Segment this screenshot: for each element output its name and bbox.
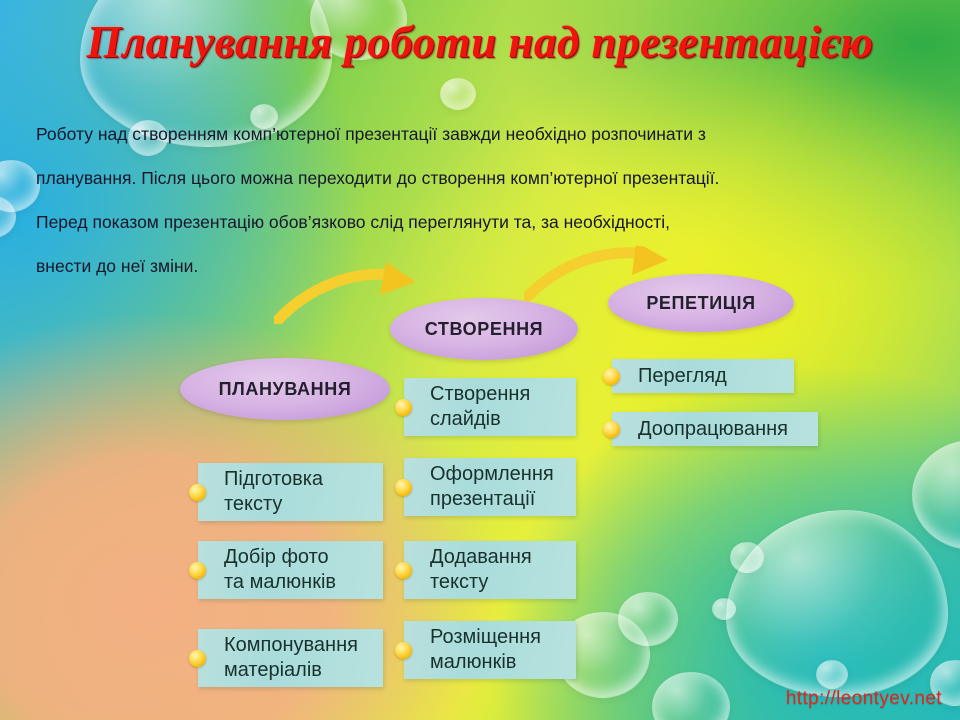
bullet-icon <box>189 650 206 667</box>
bullet-icon <box>395 399 412 416</box>
stage-rehearsal[interactable]: РЕПЕТИЦІЯ <box>608 274 794 332</box>
item-slide-creation[interactable]: Створення слайдів <box>404 378 576 436</box>
bullet-icon <box>395 562 412 579</box>
item-line-1: Розміщення <box>430 625 541 650</box>
item-photo-selection[interactable]: Добір фото та малюнків <box>198 541 383 599</box>
item-material-layout[interactable]: Компонування матеріалів <box>198 629 383 687</box>
stage-label: СТВОРЕННЯ <box>425 319 543 340</box>
stage-label: ПЛАНУВАННЯ <box>219 379 352 400</box>
item-presentation-design[interactable]: Оформлення презентації <box>404 458 576 516</box>
item-placing-images[interactable]: Розміщення малюнків <box>404 621 576 679</box>
item-line-2: тексту <box>430 570 532 595</box>
item-line-1: Добір фото <box>224 545 336 570</box>
bullet-icon <box>189 484 206 501</box>
stage-planning[interactable]: ПЛАНУВАННЯ <box>180 358 390 420</box>
item-line-1: Компонування <box>224 633 358 658</box>
item-preparation-of-text[interactable]: Підготовка тексту <box>198 463 383 521</box>
bullet-icon <box>189 562 206 579</box>
item-line-1: Додавання <box>430 545 532 570</box>
item-refinement[interactable]: Доопрацювання <box>612 412 818 446</box>
item-adding-text[interactable]: Додавання тексту <box>404 541 576 599</box>
process-diagram: ПЛАНУВАННЯ СТВОРЕННЯ РЕПЕТИЦІЯ Підготовк… <box>0 0 960 720</box>
item-line-1: Перегляд <box>638 364 727 389</box>
item-line-2: презентації <box>430 487 554 512</box>
bullet-icon <box>603 368 620 385</box>
item-line-1: Підготовка <box>224 467 323 492</box>
item-line-2: матеріалів <box>224 658 358 683</box>
source-url[interactable]: http://leontyev.net <box>786 688 942 710</box>
item-line-2: та малюнків <box>224 570 336 595</box>
item-line-1: Оформлення <box>430 462 554 487</box>
stage-creation[interactable]: СТВОРЕННЯ <box>390 298 578 360</box>
item-line-1: Доопрацювання <box>638 417 788 442</box>
bullet-icon <box>395 642 412 659</box>
item-line-1: Створення <box>430 382 530 407</box>
item-line-2: тексту <box>224 492 323 517</box>
item-review[interactable]: Перегляд <box>612 359 794 393</box>
stage-label: РЕПЕТИЦІЯ <box>646 293 755 314</box>
bullet-icon <box>603 421 620 438</box>
item-line-2: слайдів <box>430 407 530 432</box>
bullet-icon <box>395 479 412 496</box>
item-line-2: малюнків <box>430 650 541 675</box>
presentation-slide: Планування роботи над презентацією Робот… <box>0 0 960 720</box>
